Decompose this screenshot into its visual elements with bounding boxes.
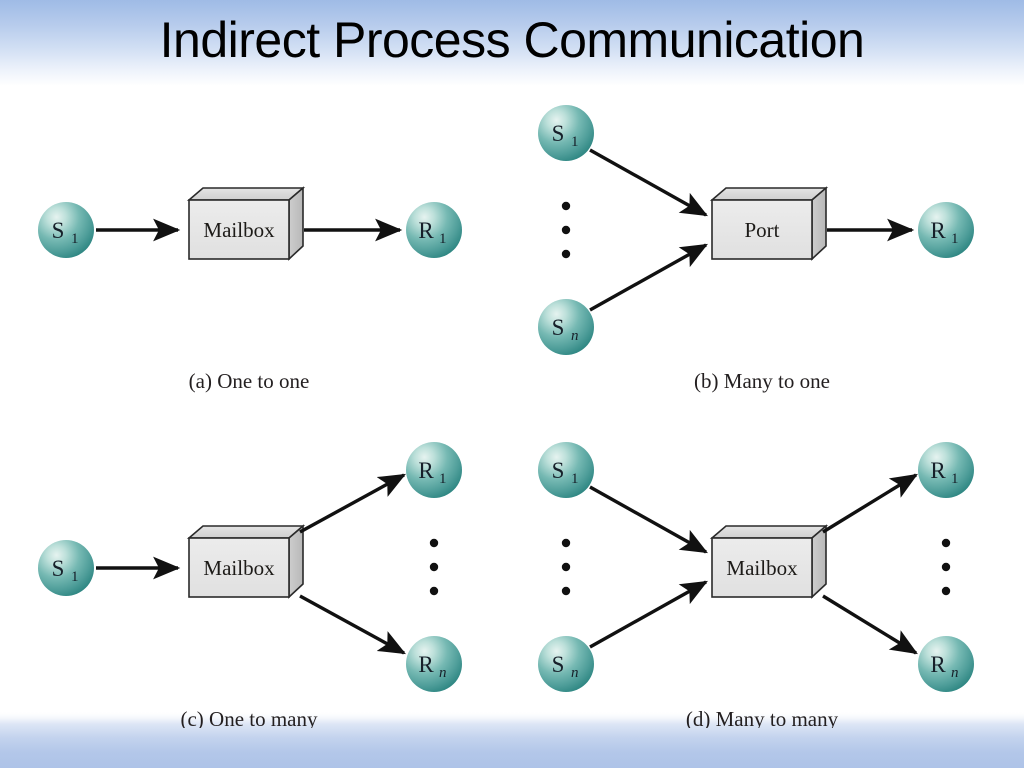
diagram-svg: S 1 Mailbox R 1 (0, 88, 1024, 728)
panel-c-arrow-out-1 (300, 475, 404, 532)
panel-a-sender-subscript: 1 (71, 231, 79, 247)
panel-d-receiver-ellipsis-icon (942, 539, 950, 595)
panel-b-receiver-subscript: 1 (951, 231, 959, 247)
panel-d-box[interactable]: Mailbox (712, 526, 826, 597)
panel-d-receiver-1-subscript: 1 (951, 471, 959, 487)
slide-title: Indirect Process Communication (0, 12, 1024, 68)
panel-b-sender-ellipsis-icon (562, 202, 570, 258)
panel-a-box-label: Mailbox (203, 218, 275, 242)
panel-b-receiver-node[interactable]: R 1 (918, 202, 974, 258)
panel-c-receiver-n-label: R (418, 652, 434, 677)
panel-d-receiver-n-label: R (930, 652, 946, 677)
panel-c-box[interactable]: Mailbox (189, 526, 303, 597)
panel-b-sender-n-subscript: n (571, 328, 579, 344)
panel-d-sender-n-label: S (552, 652, 565, 677)
panel-c-arrow-out-n (300, 596, 404, 653)
panel-b-sender-n-node[interactable]: S n (538, 299, 594, 355)
diagram-figure: S 1 Mailbox R 1 (0, 88, 1024, 728)
panel-c-receiver-n-node[interactable]: R n (406, 636, 462, 692)
panel-d-receiver-n-node[interactable]: R n (918, 636, 974, 692)
panel-d: S 1 S n (538, 442, 974, 728)
panel-c: S 1 Mailbox R 1 (38, 442, 462, 728)
panel-d-box-label: Mailbox (726, 556, 798, 580)
panel-b-arrow-in-1 (590, 150, 706, 215)
panel-b: S 1 S n (538, 105, 974, 393)
panel-d-arrow-out-1 (823, 475, 916, 532)
panel-a: S 1 Mailbox R 1 (38, 188, 462, 393)
panel-d-arrow-in-n (590, 582, 706, 647)
panel-b-box-label: Port (744, 218, 779, 242)
panel-c-receiver-1-label: R (418, 458, 434, 483)
panel-d-sender-n-subscript: n (571, 665, 579, 681)
panel-b-sender-1-node[interactable]: S 1 (538, 105, 594, 161)
panel-a-receiver-node[interactable]: R 1 (406, 202, 462, 258)
panel-d-sender-n-node[interactable]: S n (538, 636, 594, 692)
panel-b-sender-1-label: S (552, 121, 565, 146)
panel-c-receiver-1-subscript: 1 (439, 471, 447, 487)
panel-b-receiver-label: R (930, 218, 946, 243)
panel-b-caption: (b) Many to one (694, 369, 830, 393)
panel-c-receiver-n-subscript: n (439, 665, 447, 681)
panel-a-sender-label: S (52, 218, 65, 243)
slide-canvas: Indirect Process Communication (0, 0, 1024, 768)
panel-d-sender-1-subscript: 1 (571, 471, 579, 487)
panel-b-box[interactable]: Port (712, 188, 826, 259)
panel-d-receiver-1-node[interactable]: R 1 (918, 442, 974, 498)
panel-a-sender-node[interactable]: S 1 (38, 202, 94, 258)
panel-d-sender-ellipsis-icon (562, 539, 570, 595)
panel-c-caption: (c) One to many (180, 707, 318, 728)
panel-c-box-label: Mailbox (203, 556, 275, 580)
panel-b-arrow-in-n (590, 245, 706, 310)
panel-c-receiver-1-node[interactable]: R 1 (406, 442, 462, 498)
panel-d-caption: (d) Many to many (686, 707, 839, 728)
panel-c-sender-subscript: 1 (71, 569, 79, 585)
panel-b-sender-1-subscript: 1 (571, 134, 579, 150)
panel-d-sender-1-label: S (552, 458, 565, 483)
panel-c-receiver-ellipsis-icon (430, 539, 438, 595)
panel-d-receiver-n-subscript: n (951, 665, 959, 681)
panel-d-arrow-out-n (823, 596, 916, 653)
panel-a-caption: (a) One to one (189, 369, 310, 393)
panel-c-sender-label: S (52, 556, 65, 581)
panel-d-receiver-1-label: R (930, 458, 946, 483)
panel-c-sender-node[interactable]: S 1 (38, 540, 94, 596)
panel-a-receiver-subscript: 1 (439, 231, 447, 247)
panel-d-sender-1-node[interactable]: S 1 (538, 442, 594, 498)
panel-d-arrow-in-1 (590, 487, 706, 552)
panel-a-receiver-label: R (418, 218, 434, 243)
panel-a-box[interactable]: Mailbox (189, 188, 303, 259)
panel-b-sender-n-label: S (552, 315, 565, 340)
